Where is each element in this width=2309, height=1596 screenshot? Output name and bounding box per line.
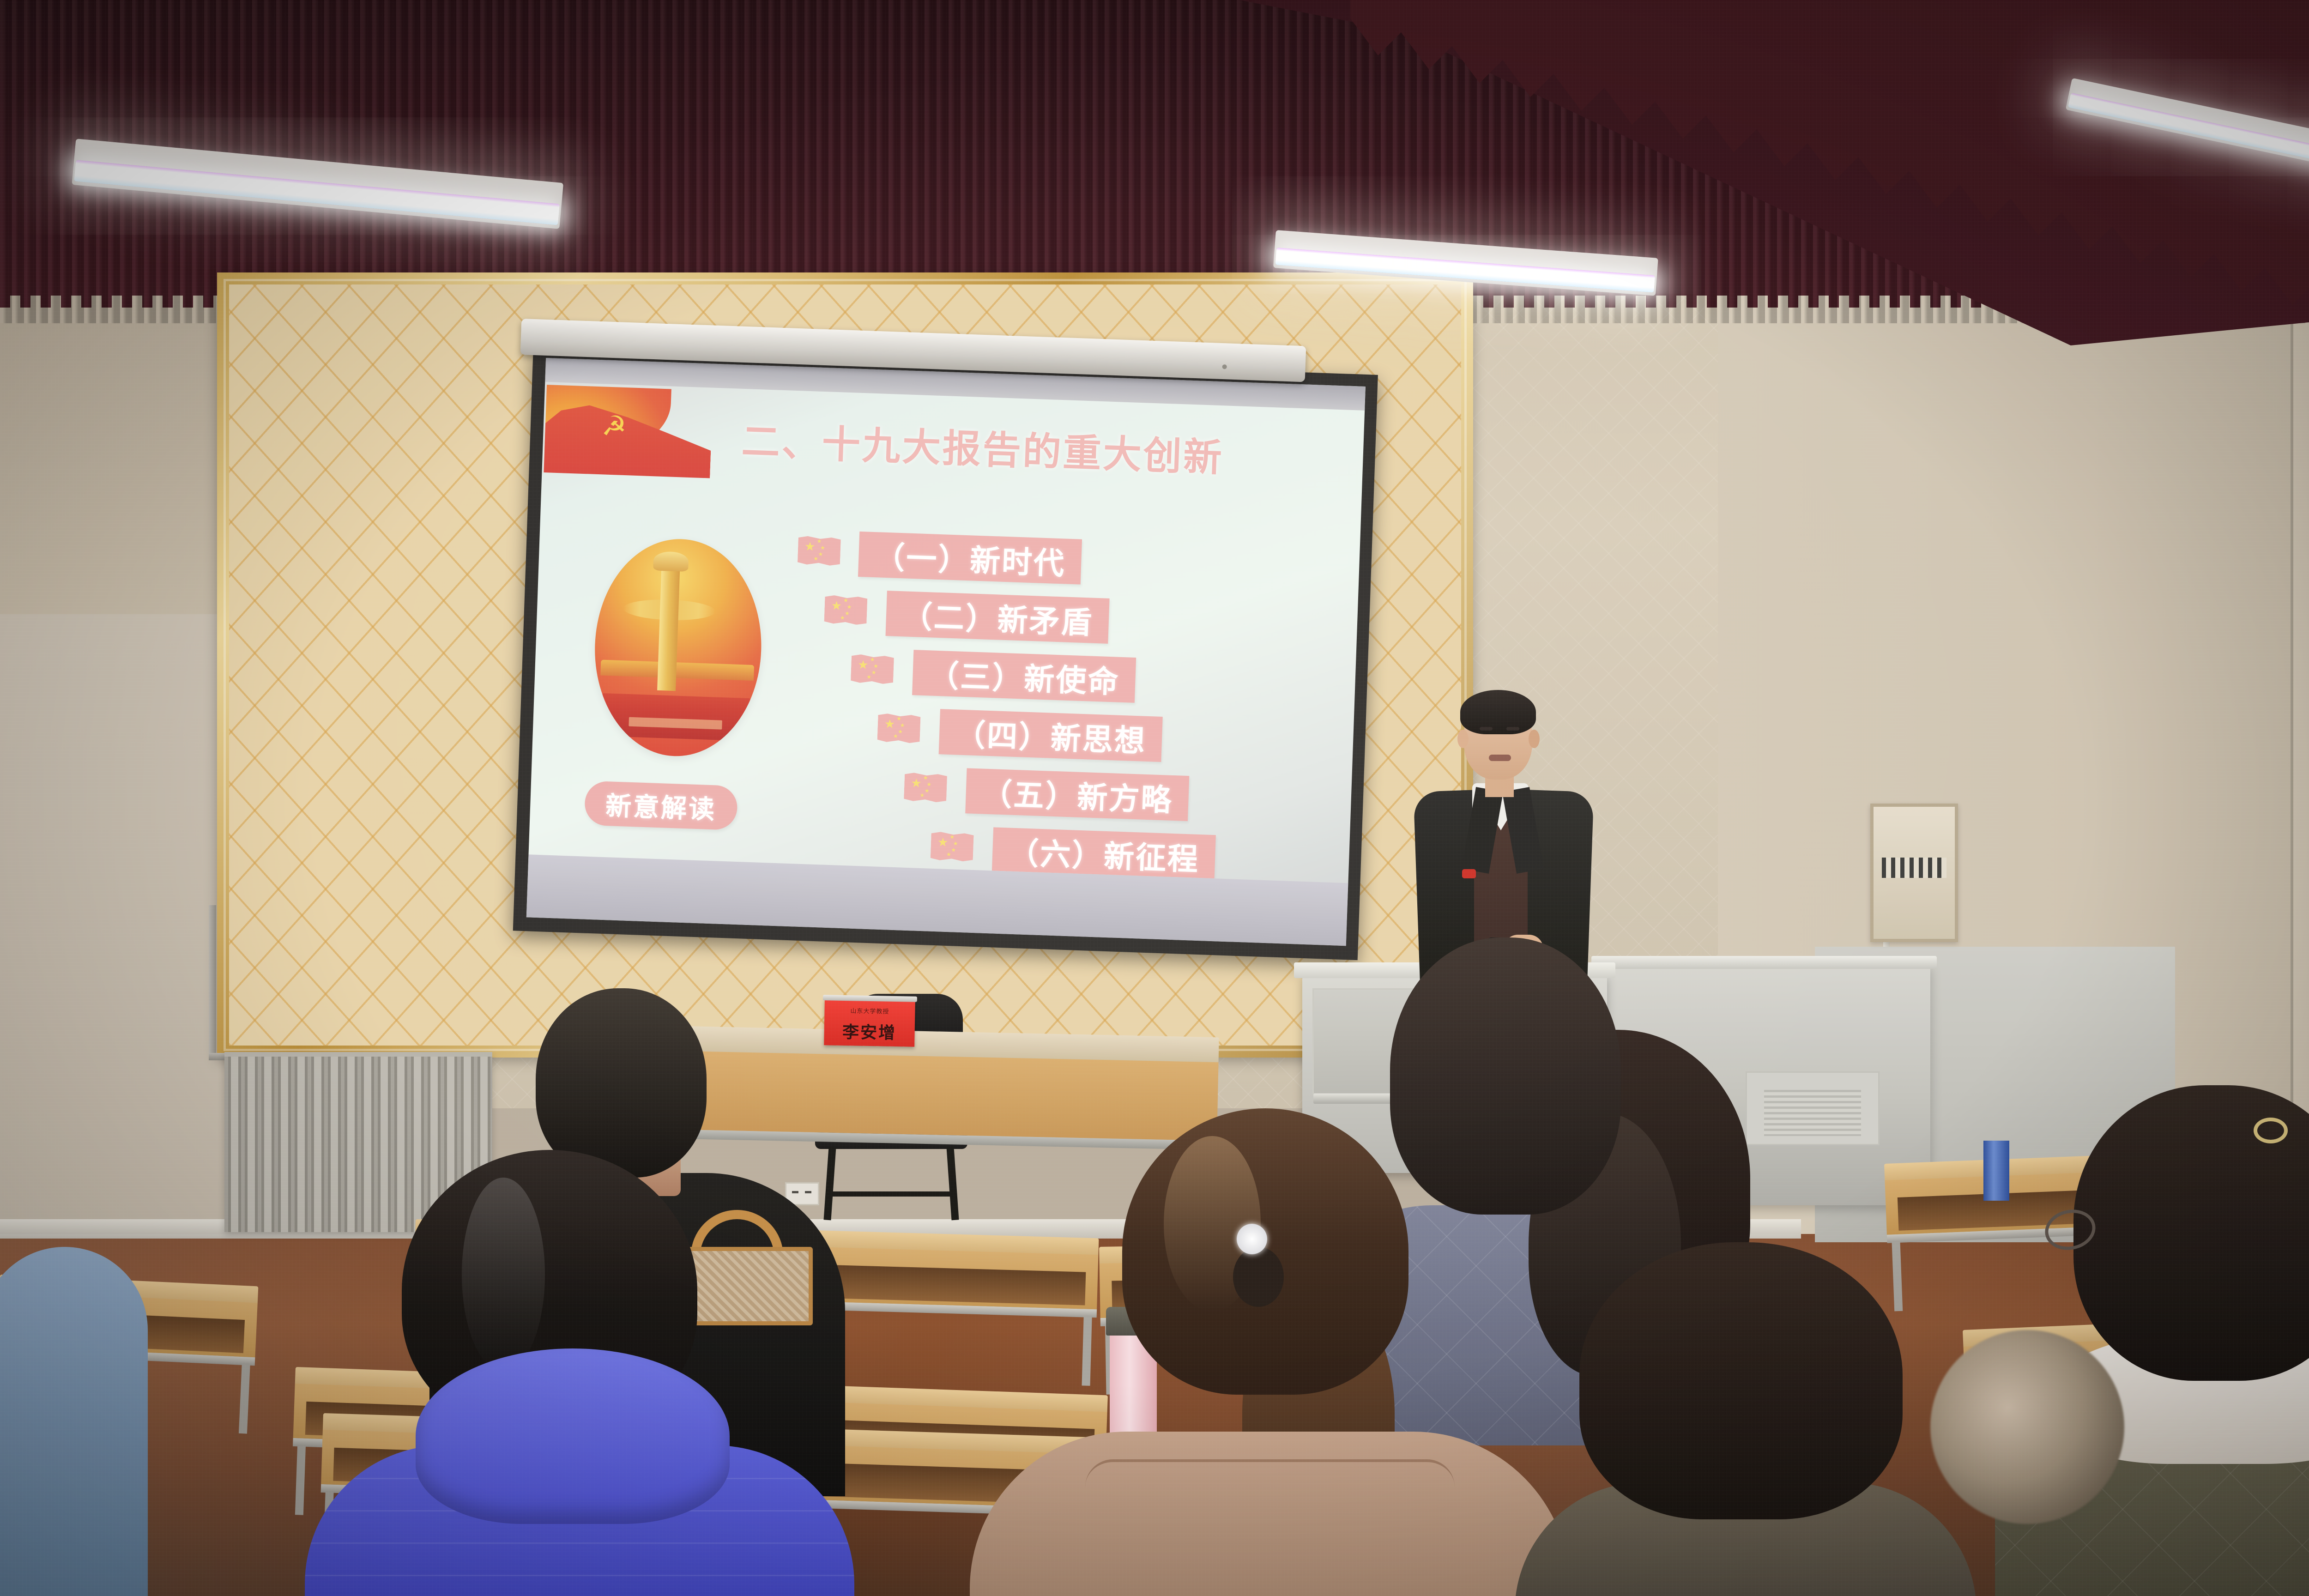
attendee-left-edge (0, 1247, 148, 1596)
slide-item-pill: （三）新使命 (912, 650, 1136, 703)
roller-logo-dot (1222, 364, 1227, 369)
left-wall-lower (0, 614, 240, 1261)
tiananmen-illustration (591, 536, 765, 759)
slide-item-label: （三）新使命 (928, 651, 1120, 701)
lapel-mic-icon (1462, 869, 1476, 878)
china-flag-icon: ★ ★ ★ ★ ★ (877, 713, 920, 744)
attendee-woman-blue-puffer (277, 1150, 864, 1596)
presenter-ear-right (1529, 730, 1540, 748)
attendee-woman-front-right (1515, 1242, 1977, 1596)
slide-bullet-list: ★ ★ ★ ★ ★ （一）新时代 ★ ★ (786, 529, 1343, 883)
slide-item-label: （五）新方略 (981, 769, 1173, 820)
presenter-mouth (1489, 755, 1511, 761)
presenter-eye-right (1506, 727, 1519, 731)
radiator-pipe-vertical (209, 905, 216, 1058)
attendee-woman-tan-coat (970, 1108, 1570, 1596)
presenter-hair (1460, 690, 1536, 734)
slide-badge: 新意解读 (584, 781, 738, 830)
presentation-slide: ☭ 二、十九大报告的重大创新 ★ ★ ★ (529, 382, 1365, 883)
china-flag-icon: ★ ★ ★ ★ ★ (824, 595, 867, 625)
podium-vent (1764, 1090, 1861, 1136)
classroom-photo-scene: ☭ 二、十九大报告的重大创新 ★ ★ ★ (0, 0, 2309, 1596)
slide-item-label: （一）新时代 (874, 532, 1066, 583)
slide-badge-label: 新意解读 (605, 785, 717, 826)
screen-surface: ☭ 二、十九大报告的重大创新 ★ ★ ★ (526, 358, 1366, 946)
breaker-switches-icon (1882, 858, 1946, 878)
slide-item-label: （六）新征程 (1008, 828, 1200, 879)
slide-item-pill: （二）新矛盾 (886, 591, 1110, 644)
party-emblem-icon: ☭ (544, 385, 713, 478)
slide-item-label: （四）新思想 (955, 710, 1147, 761)
electrical-panel-box[interactable] (1870, 804, 1958, 942)
china-flag-icon: ★ ★ ★ ★ ★ (851, 654, 894, 684)
slide-item-label: （二）新矛盾 (901, 592, 1094, 642)
slide-title: 二、十九大报告的重大创新 (741, 410, 1225, 482)
china-flag-icon: ★ ★ ★ ★ ★ (798, 536, 841, 566)
fur-collar-trim (1930, 1330, 2124, 1524)
slide-item-pill: （四）新思想 (939, 709, 1163, 762)
slide-item-pill: （一）新时代 (858, 532, 1082, 585)
projection-screen[interactable]: ☭ 二、十九大报告的重大创新 ★ ★ ★ (513, 345, 1378, 960)
presenter-ear-left (1457, 730, 1469, 748)
china-flag-icon: ★ ★ ★ ★ ★ (931, 832, 974, 862)
presenter-eye-left (1480, 727, 1493, 731)
slide-item-pill: （五）新方略 (965, 768, 1189, 821)
slide-item-pill: （六）新征程 (992, 827, 1216, 880)
china-flag-icon: ★ ★ ★ ★ ★ (904, 773, 947, 803)
